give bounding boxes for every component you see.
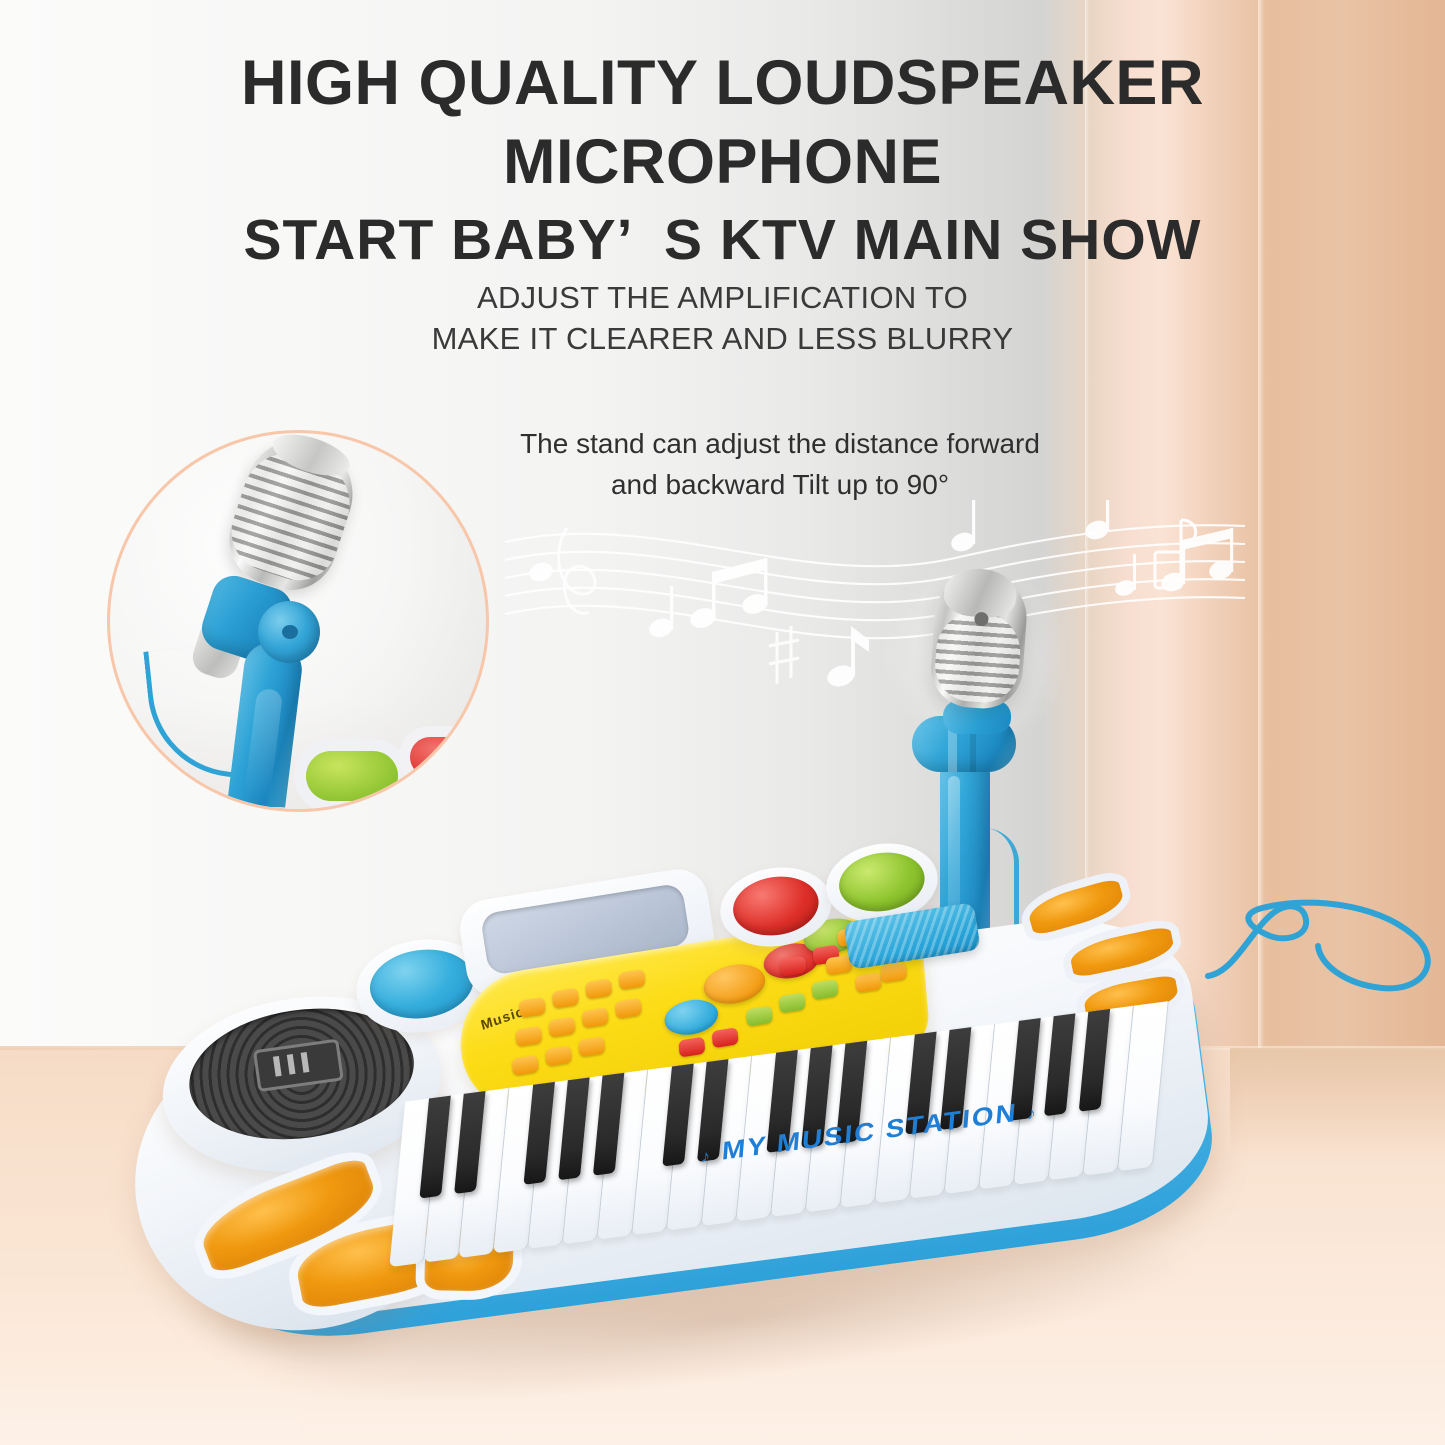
subheadline-block: ADJUST THE AMPLIFICATION TO MAKE IT CLEA…	[0, 278, 1445, 360]
playback-green-button[interactable]	[835, 847, 929, 918]
tone-button-7[interactable]	[855, 972, 882, 993]
stand-note-line-2: and backward Tilt up to 90°	[430, 465, 1130, 506]
subheadline-line-2: MAKE IT CLEARER AND LESS BLURRY	[0, 319, 1445, 360]
function-green-2[interactable]	[779, 992, 806, 1013]
inset-green-button	[306, 751, 398, 801]
demo-button-2[interactable]	[552, 988, 579, 1009]
microphone-detail-inset	[107, 430, 489, 812]
demo-button-10[interactable]	[545, 1046, 572, 1067]
stand-note-block: The stand can adjust the distance forwar…	[430, 424, 1130, 505]
headline-line-2: MICROPHONE	[0, 131, 1445, 194]
headline-line-3: START BABY’ S KTV MAIN SHOW	[0, 212, 1445, 269]
product-marketing-image: HIGH QUALITY LOUDSPEAKER MICROPHONE STAR…	[0, 0, 1445, 1445]
brand-note-icon-2: ♪	[1026, 1103, 1038, 1123]
function-green-1[interactable]	[746, 1006, 773, 1027]
demo-button-8[interactable]	[615, 998, 642, 1019]
demo-button-1[interactable]	[519, 997, 546, 1018]
headline-line-1: HIGH QUALITY LOUDSPEAKER	[0, 52, 1445, 115]
demo-button-4[interactable]	[618, 969, 645, 990]
subheadline-line-1: ADJUST THE AMPLIFICATION TO	[0, 278, 1445, 319]
brand-note-icon: ♪	[701, 1146, 713, 1166]
demo-button-5[interactable]	[515, 1026, 542, 1047]
function-red-1[interactable]	[678, 1037, 705, 1058]
demo-button-6[interactable]	[548, 1017, 575, 1038]
demo-button-9[interactable]	[512, 1055, 539, 1076]
inset-red-button	[410, 737, 484, 777]
function-green-3[interactable]	[811, 979, 838, 1000]
inset-mic-tilt-joint	[258, 601, 320, 663]
toy-keyboard: Music	[140, 880, 1310, 1420]
function-red-2[interactable]	[712, 1027, 739, 1048]
demo-button-11[interactable]	[578, 1036, 605, 1057]
record-button[interactable]	[663, 996, 719, 1038]
rhythm-button[interactable]	[702, 960, 767, 1008]
demo-button-7[interactable]	[582, 1007, 609, 1028]
demo-button-3[interactable]	[585, 978, 612, 999]
tone-button-8[interactable]	[880, 962, 907, 983]
power-knob-button[interactable]	[365, 943, 477, 1025]
microphone-head	[928, 569, 1029, 711]
headline-block: HIGH QUALITY LOUDSPEAKER MICROPHONE STAR…	[0, 52, 1445, 269]
inset-mic-arm-highlight	[244, 688, 283, 800]
record-red-button[interactable]	[729, 871, 823, 942]
stand-note-line-1: The stand can adjust the distance forwar…	[430, 424, 1130, 465]
